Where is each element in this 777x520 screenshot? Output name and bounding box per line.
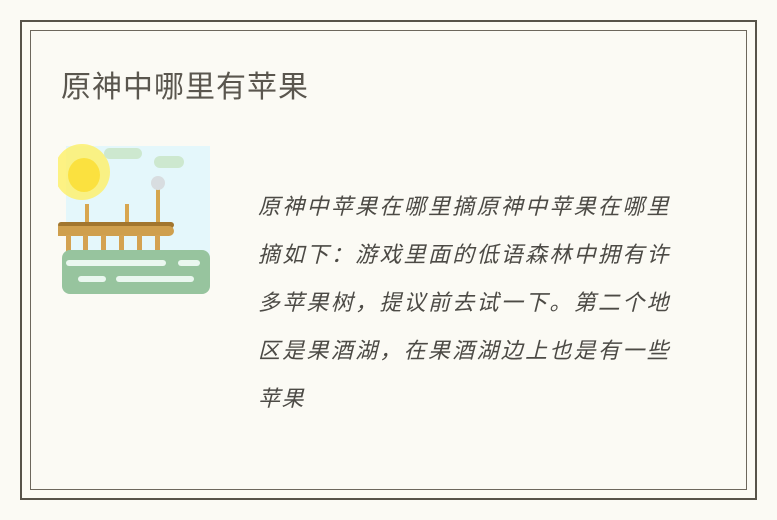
cloud-icon	[154, 156, 184, 168]
water-wave-line	[116, 276, 194, 282]
water-wave-line	[78, 276, 106, 282]
article-body-text: 原神中苹果在哪里摘原神中苹果在哪里摘如下：游戏里面的低语森林中拥有许多苹果树，提…	[258, 184, 670, 424]
water-wave-line	[66, 260, 166, 266]
article-container: 原神中哪里有苹果	[30, 30, 747, 490]
lamp-post-light-icon	[151, 176, 165, 190]
water-wave-line	[178, 260, 200, 266]
lamp-post-pole	[156, 184, 160, 226]
cloud-icon	[104, 148, 142, 159]
sun-icon	[68, 158, 100, 192]
article-body: 原神中苹果在哪里摘原神中苹果在哪里摘如下：游戏里面的低语森林中拥有许多苹果树，提…	[58, 142, 718, 442]
water-area	[62, 250, 210, 294]
page-title: 原神中哪里有苹果	[61, 68, 309, 108]
page-root: 原神中哪里有苹果	[0, 0, 777, 520]
pier-illustration	[58, 142, 210, 297]
